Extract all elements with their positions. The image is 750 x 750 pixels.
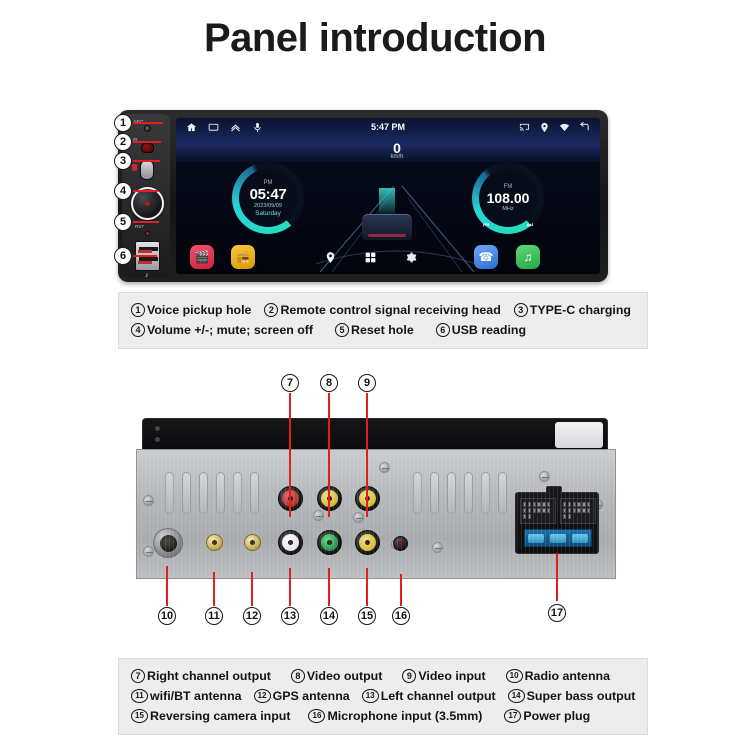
leader-line-12 bbox=[251, 572, 253, 606]
rear-unit-diagram bbox=[136, 418, 616, 590]
legend-text: wifi/BT antenna bbox=[150, 686, 242, 706]
reset-label: RST bbox=[135, 224, 144, 229]
panel-introduction-page: Panel introduction MIC IR RST ♪ bbox=[0, 0, 750, 750]
callout-7: 7 bbox=[281, 374, 299, 392]
legend-item: 13Left channel output bbox=[362, 686, 496, 706]
callout-5: 5 bbox=[114, 213, 132, 231]
legend-text: Super bass output bbox=[527, 686, 636, 706]
legend-text: Left channel output bbox=[381, 686, 496, 706]
page-title: Panel introduction bbox=[0, 16, 750, 61]
legend-num: 13 bbox=[362, 689, 379, 703]
legend-row: 1Voice pickup hole 2Remote control signa… bbox=[131, 300, 637, 320]
legend-item: 5Reset hole bbox=[335, 320, 414, 340]
chassis-screw bbox=[143, 495, 154, 506]
leader-line-6 bbox=[133, 255, 157, 257]
music-app-icon[interactable]: ♫ bbox=[516, 245, 540, 269]
leader-line-9 bbox=[366, 393, 368, 517]
legend-item: 11wifi/BT antenna bbox=[131, 686, 242, 706]
legend-text: TYPE-C charging bbox=[530, 300, 631, 320]
radio-next-button[interactable]: ⏭ bbox=[527, 222, 533, 230]
vent-slot bbox=[165, 472, 174, 514]
leader-line-17 bbox=[556, 553, 558, 601]
leader-line-15 bbox=[366, 568, 368, 606]
callout-6: 6 bbox=[114, 247, 132, 265]
clock-widget[interactable]: PM 05:47 2023/09/09 Saturday bbox=[232, 162, 304, 234]
speed-unit: km/h bbox=[362, 154, 432, 160]
power-pin-grid bbox=[523, 502, 555, 519]
callout-2: 2 bbox=[114, 133, 132, 151]
rear-top-hole-lower bbox=[155, 437, 160, 442]
volume-knob[interactable] bbox=[131, 187, 164, 220]
wifi-bt-antenna-jack bbox=[206, 534, 223, 551]
screen-dock: 🎬 📻 ☎ ♫ bbox=[176, 240, 600, 274]
legend-item: 1Voice pickup hole bbox=[131, 300, 251, 320]
callout-17: 17 bbox=[548, 604, 566, 622]
super-bass-output-jack bbox=[317, 530, 342, 555]
legend-text: Remote control signal receiving head bbox=[280, 300, 500, 320]
leader-line-2 bbox=[133, 141, 161, 143]
legend-item: 8Video output bbox=[291, 666, 382, 686]
callout-4: 4 bbox=[114, 182, 132, 200]
leader-line-3 bbox=[133, 160, 160, 162]
legend-num: 17 bbox=[504, 709, 521, 723]
chassis-screw bbox=[143, 546, 154, 557]
leader-line-1 bbox=[133, 122, 163, 124]
leader-line-11 bbox=[213, 572, 215, 606]
legend-item: 4Volume +/-; mute; screen off bbox=[131, 320, 313, 340]
radio-frequency: 108.00 bbox=[487, 190, 530, 206]
left-channel-output-jack bbox=[278, 530, 303, 555]
vent-slot bbox=[413, 472, 422, 514]
settings-gear-icon[interactable] bbox=[404, 251, 417, 264]
location-pin-icon[interactable] bbox=[324, 251, 337, 264]
legend-text: Right channel output bbox=[147, 666, 271, 686]
legend-item: 2Remote control signal receiving head bbox=[264, 300, 500, 320]
vent-slot bbox=[447, 472, 456, 514]
radio-antenna-jack bbox=[153, 528, 183, 558]
gps-antenna-jack bbox=[244, 534, 261, 551]
legend-num: 12 bbox=[254, 689, 271, 703]
legend-num: 8 bbox=[291, 669, 305, 683]
callout-10: 10 bbox=[158, 607, 176, 625]
clock-face: PM 05:47 2023/09/09 Saturday bbox=[241, 171, 295, 225]
car-graphic bbox=[362, 214, 412, 240]
leader-line-13 bbox=[289, 568, 291, 606]
legend-text: USB reading bbox=[452, 320, 526, 340]
vent-slot bbox=[233, 472, 242, 514]
leader-line-8 bbox=[328, 393, 330, 517]
legend-num: 3 bbox=[514, 303, 528, 317]
vent-slot bbox=[250, 472, 259, 514]
leader-line-14 bbox=[328, 568, 330, 606]
vent-slot bbox=[498, 472, 507, 514]
clock-weekday: Saturday bbox=[255, 210, 281, 217]
leader-line-4 bbox=[133, 190, 158, 192]
microphone-input-jack bbox=[393, 536, 408, 551]
status-bar-clock: 5:47 PM bbox=[176, 122, 600, 132]
legend-num: 16 bbox=[308, 709, 325, 723]
voice-pickup-hole bbox=[144, 125, 151, 132]
legend-row: 4Volume +/-; mute; screen off 5Reset hol… bbox=[131, 320, 637, 340]
speed-readout: 0 km/h bbox=[362, 140, 432, 160]
leader-line-5 bbox=[133, 221, 159, 223]
apps-grid-icon[interactable] bbox=[364, 251, 377, 264]
vent-slot bbox=[182, 472, 191, 514]
legend-num: 11 bbox=[131, 689, 148, 703]
legend-text: Power plug bbox=[523, 706, 590, 726]
ir-receiver bbox=[141, 143, 154, 153]
reversing-camera-input-jack bbox=[355, 530, 380, 555]
leader-line-16 bbox=[400, 574, 402, 606]
chassis-screw bbox=[353, 512, 364, 523]
legend-text: Radio antenna bbox=[525, 666, 610, 686]
power-plug-connector bbox=[515, 492, 599, 554]
reset-hole[interactable] bbox=[145, 231, 150, 236]
legend-item: 6USB reading bbox=[436, 320, 526, 340]
legend-text: Video output bbox=[307, 666, 382, 686]
legend-text: Reset hole bbox=[351, 320, 414, 340]
vent-slot bbox=[464, 472, 473, 514]
legend-rear-panel: 7Right channel output 8Video output 9Vid… bbox=[118, 658, 648, 735]
legend-item: 14Super bass output bbox=[508, 686, 636, 706]
legend-row: 11wifi/BT antenna 12GPS antenna 13Left c… bbox=[131, 686, 637, 706]
rear-chassis bbox=[136, 449, 616, 579]
clock-date: 2023/09/09 bbox=[254, 203, 282, 209]
legend-text: Video input bbox=[418, 666, 485, 686]
legend-text: Volume +/-; mute; screen off bbox=[147, 320, 313, 340]
power-connector-blue-section bbox=[524, 529, 592, 547]
legend-item: 12GPS antenna bbox=[254, 686, 350, 706]
chassis-screw bbox=[539, 471, 550, 482]
legend-num: 9 bbox=[402, 669, 416, 683]
vent-slot bbox=[481, 472, 490, 514]
legend-item: 3TYPE-C charging bbox=[514, 300, 631, 320]
legend-num: 14 bbox=[508, 689, 525, 703]
legend-item: 7Right channel output bbox=[131, 666, 271, 686]
status-bar: 5:47 PM bbox=[176, 118, 600, 136]
vent-slot bbox=[430, 472, 439, 514]
music-note-icon: ♪ bbox=[145, 272, 149, 279]
chassis-screw bbox=[432, 542, 443, 553]
legend-text: Microphone input (3.5mm) bbox=[327, 706, 482, 726]
callout-11: 11 bbox=[205, 607, 223, 625]
legend-item: 15Reversing camera input bbox=[131, 706, 290, 726]
legend-item: 9Video input bbox=[402, 666, 485, 686]
chassis-screw bbox=[313, 510, 324, 521]
legend-text: GPS antenna bbox=[273, 686, 350, 706]
radio-face: FM 108.00 MHz bbox=[481, 171, 535, 225]
video-app-icon[interactable]: 🎬 bbox=[190, 245, 214, 269]
legend-num: 10 bbox=[506, 669, 523, 683]
power-pin-block-a bbox=[520, 498, 556, 524]
radio-transport-controls: ⏮ ⏭ bbox=[472, 222, 544, 230]
legend-text: Voice pickup hole bbox=[147, 300, 251, 320]
clock-time: 05:47 bbox=[250, 186, 287, 203]
rear-top-bar bbox=[142, 418, 608, 450]
legend-front-panel: 1Voice pickup hole 2Remote control signa… bbox=[118, 292, 648, 349]
typec-indicator bbox=[132, 164, 137, 171]
legend-item: 10Radio antenna bbox=[506, 666, 610, 686]
front-unit-diagram: MIC IR RST ♪ bbox=[118, 110, 608, 282]
vent-slot bbox=[216, 472, 225, 514]
power-pin-block-b bbox=[560, 498, 596, 524]
rear-top-hole-upper bbox=[155, 426, 160, 431]
usb-accent-lower bbox=[138, 261, 152, 264]
radio-prev-button[interactable]: ⏮ bbox=[483, 222, 489, 230]
usb-accent-upper bbox=[138, 250, 152, 253]
callout-14: 14 bbox=[320, 607, 338, 625]
radio-app-icon[interactable]: 📻 bbox=[231, 245, 255, 269]
vent-slot bbox=[199, 472, 208, 514]
chassis-screw bbox=[379, 462, 390, 473]
callout-1: 1 bbox=[114, 114, 132, 132]
legend-item: 17Power plug bbox=[504, 706, 590, 726]
typec-charging-port bbox=[140, 160, 154, 180]
legend-row: 7Right channel output 8Video output 9Vid… bbox=[131, 666, 637, 686]
rear-top-label-plate bbox=[555, 422, 603, 448]
legend-num: 15 bbox=[131, 709, 148, 723]
legend-item: 16Microphone input (3.5mm) bbox=[308, 706, 482, 726]
legend-num: 5 bbox=[335, 323, 349, 337]
leader-line-7 bbox=[289, 393, 291, 517]
legend-text: Reversing camera input bbox=[150, 706, 290, 726]
legend-num: 1 bbox=[131, 303, 145, 317]
callout-9: 9 bbox=[358, 374, 376, 392]
legend-num: 4 bbox=[131, 323, 145, 337]
callout-8: 8 bbox=[320, 374, 338, 392]
callout-13: 13 bbox=[281, 607, 299, 625]
radio-unit: MHz bbox=[502, 206, 513, 212]
head-unit-screen[interactable]: 5:47 PM 0 km/h PM 05:47 2023/09/09 Satur… bbox=[176, 118, 600, 274]
callout-3: 3 bbox=[114, 152, 132, 170]
legend-row: 15Reversing camera input 16Microphone in… bbox=[131, 706, 637, 726]
legend-num: 7 bbox=[131, 669, 145, 683]
leader-line-10 bbox=[166, 566, 168, 606]
callout-15: 15 bbox=[358, 607, 376, 625]
power-pin-grid bbox=[563, 502, 595, 519]
callout-12: 12 bbox=[243, 607, 261, 625]
legend-num: 6 bbox=[436, 323, 450, 337]
legend-num: 2 bbox=[264, 303, 278, 317]
power-connector-tab bbox=[546, 486, 562, 494]
phone-app-icon[interactable]: ☎ bbox=[474, 245, 498, 269]
callout-16: 16 bbox=[392, 607, 410, 625]
